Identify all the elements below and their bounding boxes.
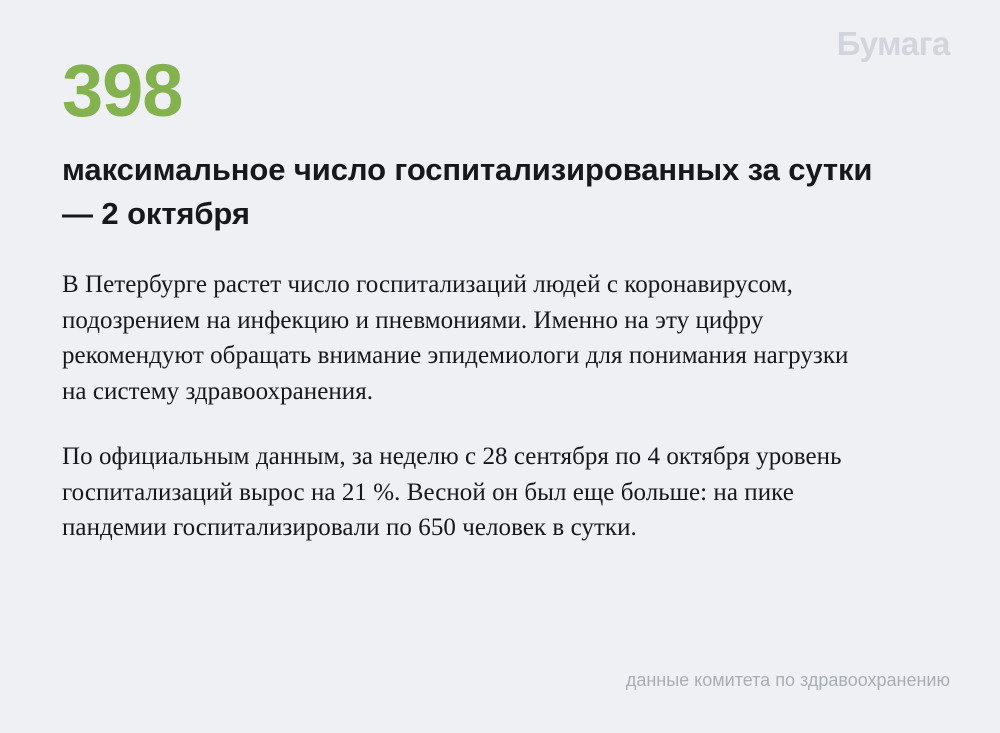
body-copy: В Петербурге растет число госпитализаций… bbox=[62, 267, 862, 546]
page-title: максимальное число госпитализированных з… bbox=[62, 148, 892, 236]
body-paragraph: По официальным данным, за неделю с 28 се… bbox=[62, 439, 862, 546]
infographic-card: Бумага 398 максимальное число госпитализ… bbox=[0, 0, 1000, 733]
stat-value: 398 bbox=[62, 54, 182, 128]
brand-logo: Бумага bbox=[837, 27, 950, 60]
source-attribution: данные комитета по здравоохранению bbox=[626, 671, 950, 689]
body-paragraph: В Петербурге растет число госпитализаций… bbox=[62, 267, 862, 409]
